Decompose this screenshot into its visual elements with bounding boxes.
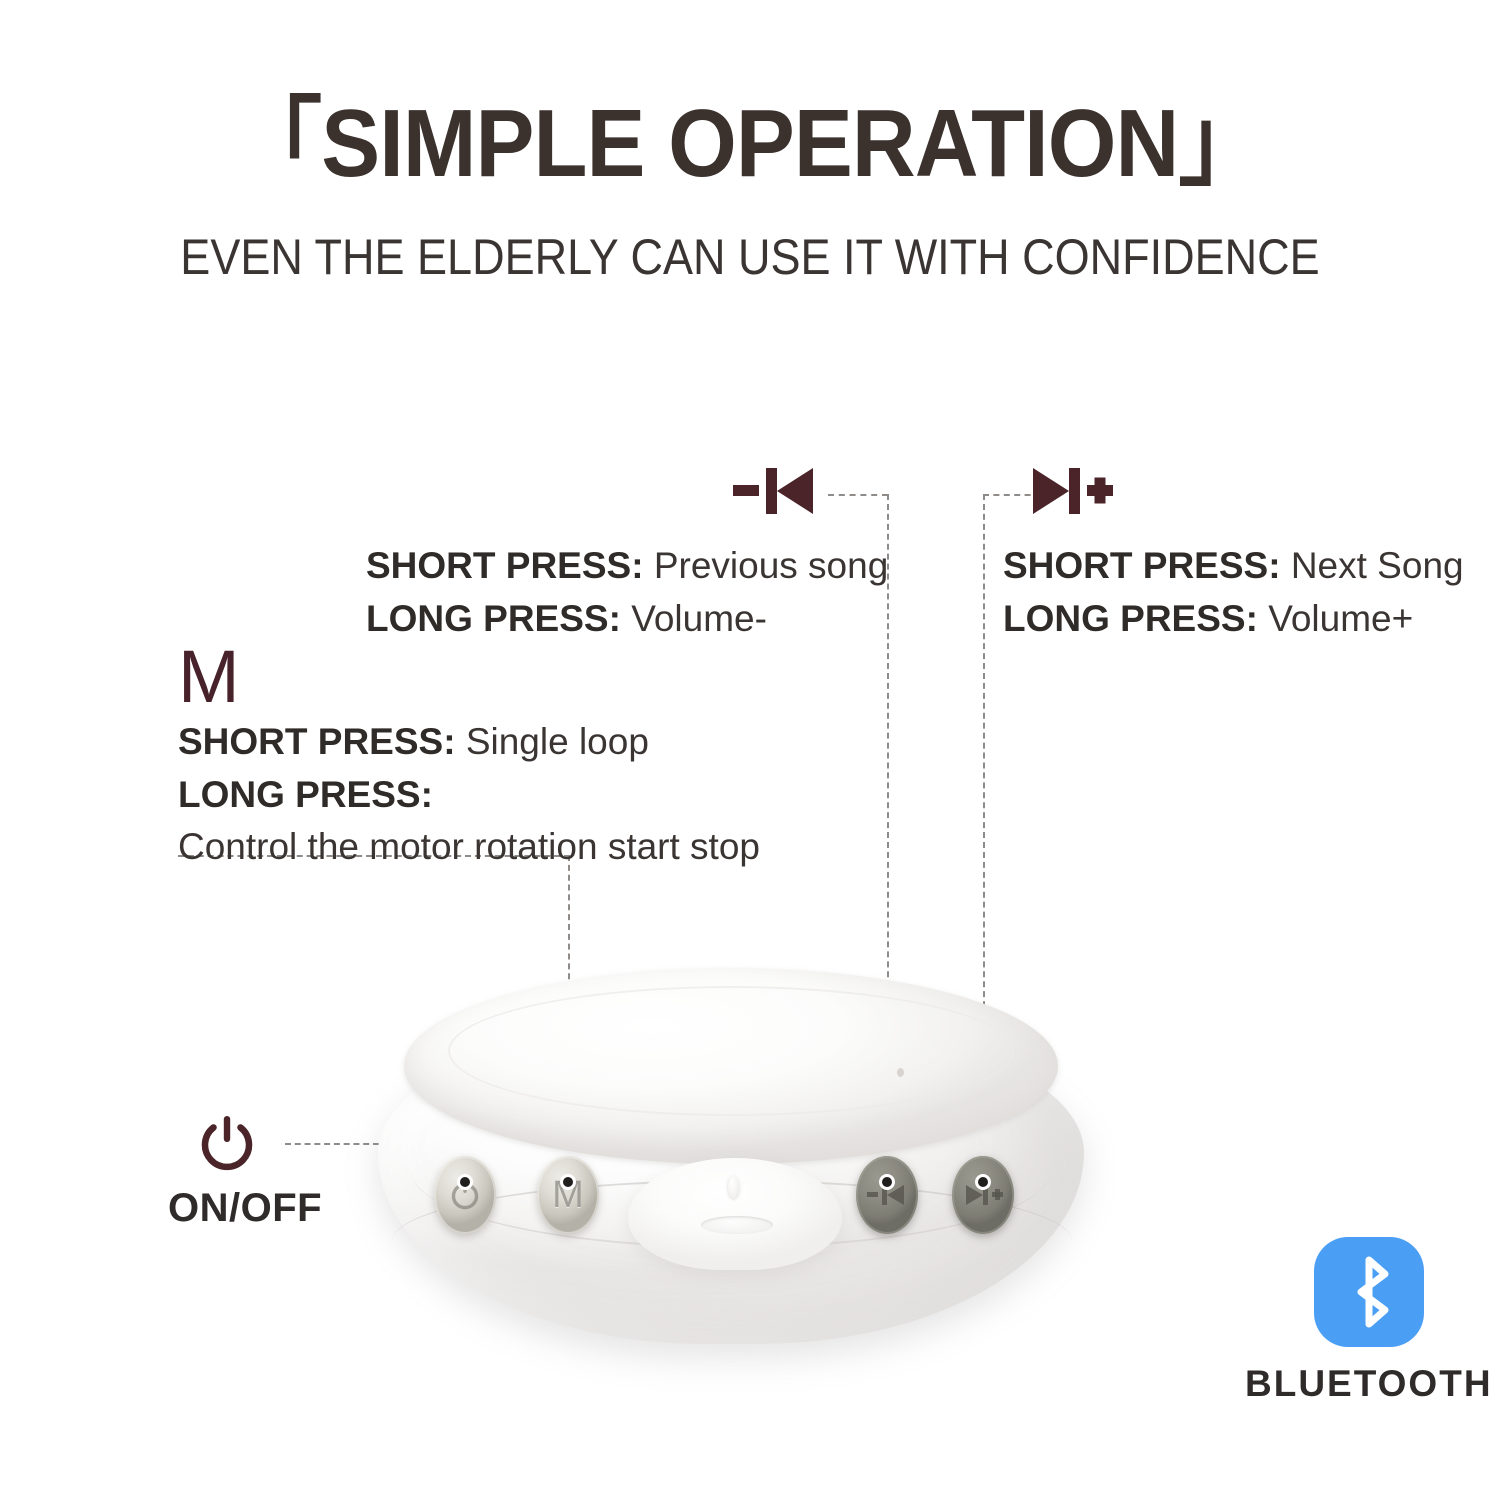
previous-long-press-value: Volume- (631, 598, 767, 639)
page-subtitle: EVEN THE ELDERLY CAN USE IT WITH CONFIDE… (0, 228, 1500, 286)
mode-button-icon: M (178, 640, 240, 714)
power-label: ON/OFF (168, 1186, 322, 1231)
bluetooth-icon (1338, 1253, 1400, 1331)
mode-long-press-label: LONG PRESS: (178, 774, 433, 815)
previous-short-press-value: Previous song (654, 545, 888, 586)
device-power-button[interactable] (434, 1156, 496, 1234)
next-track-volume-up-icon (1027, 466, 1113, 520)
mode-long-press-value: Control the motor rotation start stop (178, 821, 760, 874)
leader-line-previous-horizontal (828, 494, 888, 496)
previous-short-press-line: SHORT PRESS: Previous song (366, 540, 888, 593)
mode-short-press-line: SHORT PRESS: Single loop (178, 716, 760, 769)
previous-short-press-label: SHORT PRESS: (366, 545, 644, 586)
device-next-button-marker (975, 1174, 991, 1190)
power-icon (196, 1113, 258, 1180)
next-short-press-line: SHORT PRESS: Next Song (1003, 540, 1464, 593)
device-power-button-marker (457, 1174, 473, 1190)
mode-short-press-value: Single loop (466, 721, 649, 762)
device-next-button[interactable] (952, 1156, 1014, 1234)
next-short-press-value: Next Song (1291, 545, 1464, 586)
device-mic-pinhole (897, 1068, 904, 1077)
previous-track-volume-down-icon (733, 466, 819, 520)
previous-long-press-line: LONG PRESS: Volume- (366, 593, 888, 646)
callout-next: SHORT PRESS: Next Song LONG PRESS: Volum… (1003, 540, 1464, 645)
bracket-open-glyph: 「 (234, 96, 321, 192)
infographic-canvas: 「SIMPLE OPERATION」 EVEN THE ELDERLY CAN … (0, 0, 1500, 1500)
bracket-close-glyph: 」 (1179, 96, 1266, 192)
previous-long-press-label: LONG PRESS: (366, 598, 621, 639)
title-text: SIMPLE OPERATION (321, 90, 1178, 197)
next-short-press-label: SHORT PRESS: (1003, 545, 1281, 586)
device-previous-button[interactable] (856, 1156, 918, 1234)
bluetooth-badge: BLUETOOTH (1245, 1237, 1493, 1405)
device-indicator-led (728, 1176, 739, 1198)
bluetooth-label: BLUETOOTH (1245, 1363, 1493, 1405)
device-front-slot (701, 1216, 773, 1234)
speaker-device-photo: M (352, 968, 1112, 1348)
next-long-press-value: Volume+ (1268, 598, 1413, 639)
next-long-press-line: LONG PRESS: Volume+ (1003, 593, 1464, 646)
device-mode-button[interactable]: M (537, 1156, 599, 1234)
callout-previous: SHORT PRESS: Previous song LONG PRESS: V… (366, 540, 888, 645)
next-long-press-label: LONG PRESS: (1003, 598, 1258, 639)
page-title: 「SIMPLE OPERATION」 (0, 96, 1500, 192)
device-previous-button-marker (879, 1174, 895, 1190)
mode-long-press-label-line: LONG PRESS: (178, 769, 760, 822)
bluetooth-icon-tile (1314, 1237, 1424, 1347)
callout-mode: SHORT PRESS: Single loop LONG PRESS: Con… (178, 716, 760, 874)
device-lid-ring (448, 986, 1014, 1116)
mode-short-press-label: SHORT PRESS: (178, 721, 456, 762)
device-front-bump (628, 1158, 842, 1270)
device-mode-button-marker (560, 1174, 576, 1190)
